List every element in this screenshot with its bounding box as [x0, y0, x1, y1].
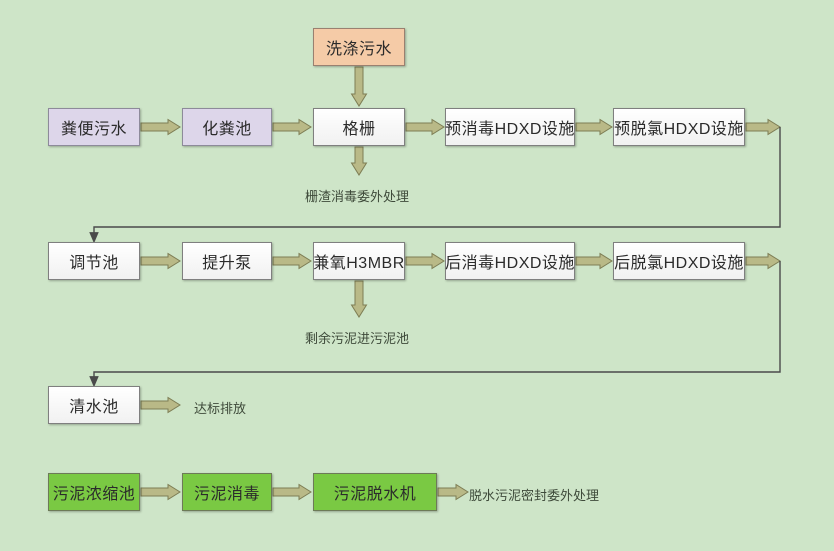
arrow-wunixiaodu-to-wunituoshui [273, 485, 311, 500]
arrow-zhashan-to-shanzha [352, 147, 367, 175]
node-jianyang-h3mbr[interactable]: 兼氧H3MBR [313, 242, 405, 280]
node-label: 污泥浓缩池 [53, 480, 136, 504]
annotation-shanzha-chuli: 栅渣消毒委外处理 [305, 186, 409, 205]
arrow-wunizhuo-to-wunixiaodu [141, 485, 180, 500]
node-yu-xiaodu-hdxd[interactable]: 预消毒HDXD设施 [445, 108, 575, 146]
node-label: 预脱氯HDXD设施 [614, 115, 744, 139]
node-label: 污泥消毒 [194, 480, 260, 504]
node-fenbian-wushui[interactable]: 粪便污水 [48, 108, 140, 146]
arrow-wunituoshui-to-tuoshui [438, 485, 468, 500]
arrow-xidi-to-zhashan [352, 67, 367, 106]
annotation-shengyu-wuni: 剩余污泥进污泥池 [305, 328, 409, 347]
node-label: 兼氧H3MBR [313, 249, 405, 273]
node-wuni-xiaodu[interactable]: 污泥消毒 [182, 473, 272, 511]
node-huafenchi[interactable]: 化粪池 [182, 108, 272, 146]
arrow-huafenchi-to-zhashan [273, 120, 311, 135]
node-label: 调节池 [69, 249, 119, 273]
node-yu-tuolv-hdxd[interactable]: 预脱氯HDXD设施 [613, 108, 745, 146]
arrow-zhashan-to-yuxiaodu [406, 120, 444, 135]
node-label: 格栅 [342, 115, 375, 139]
node-hou-xiaodu-hdxd[interactable]: 后消毒HDXD设施 [445, 242, 575, 280]
flowchart-canvas: 粪便污水 化粪池 洗涤污水 格栅 预消毒HDXD设施 预脱氯HDXD设施 调节池… [0, 0, 834, 551]
arrow-tiaojiechi-to-tishengbeng [141, 254, 180, 269]
node-label: 后消毒HDXD设施 [445, 249, 575, 273]
node-tishengbeng[interactable]: 提升泵 [182, 242, 272, 280]
node-hou-tuolv-hdxd[interactable]: 后脱氯HDXD设施 [613, 242, 745, 280]
node-label: 清水池 [69, 393, 119, 417]
node-qingshuichi[interactable]: 清水池 [48, 386, 140, 424]
arrow-jianyang-to-shengyu [352, 281, 367, 317]
node-label: 提升泵 [202, 249, 252, 273]
node-label: 粪便污水 [61, 115, 127, 139]
node-tiaojiechi[interactable]: 调节池 [48, 242, 140, 280]
node-label: 污泥脱水机 [334, 480, 417, 504]
node-wuni-nongsuochi[interactable]: 污泥浓缩池 [48, 473, 140, 511]
node-label: 后脱氯HDXD设施 [614, 249, 744, 273]
node-label: 预消毒HDXD设施 [445, 115, 575, 139]
arrow-tishengbeng-to-jianyang [273, 254, 311, 269]
arrow-qingshuichi-to-dabiao [141, 398, 180, 413]
arrow-yutuolv-out-right [746, 120, 780, 135]
arrow-yuxiaodu-to-yutuolv [576, 120, 612, 135]
node-zhashan[interactable]: 格栅 [313, 108, 405, 146]
annotation-dabiao-paifang: 达标排放 [194, 398, 246, 417]
arrow-fenbian-to-huafenchi [141, 120, 180, 135]
node-label: 洗涤污水 [326, 35, 392, 59]
node-label: 化粪池 [202, 115, 252, 139]
annotation-tuoshui-wuni: 脱水污泥密封委外处理 [469, 485, 599, 504]
arrow-houxiaodu-to-houtuolv [576, 254, 612, 269]
node-wuni-tuoshuiji[interactable]: 污泥脱水机 [313, 473, 437, 511]
arrow-houtuolv-out-right [746, 254, 780, 269]
node-xidi-wushui[interactable]: 洗涤污水 [313, 28, 405, 66]
arrow-jianyang-to-houxiaodu [406, 254, 444, 269]
